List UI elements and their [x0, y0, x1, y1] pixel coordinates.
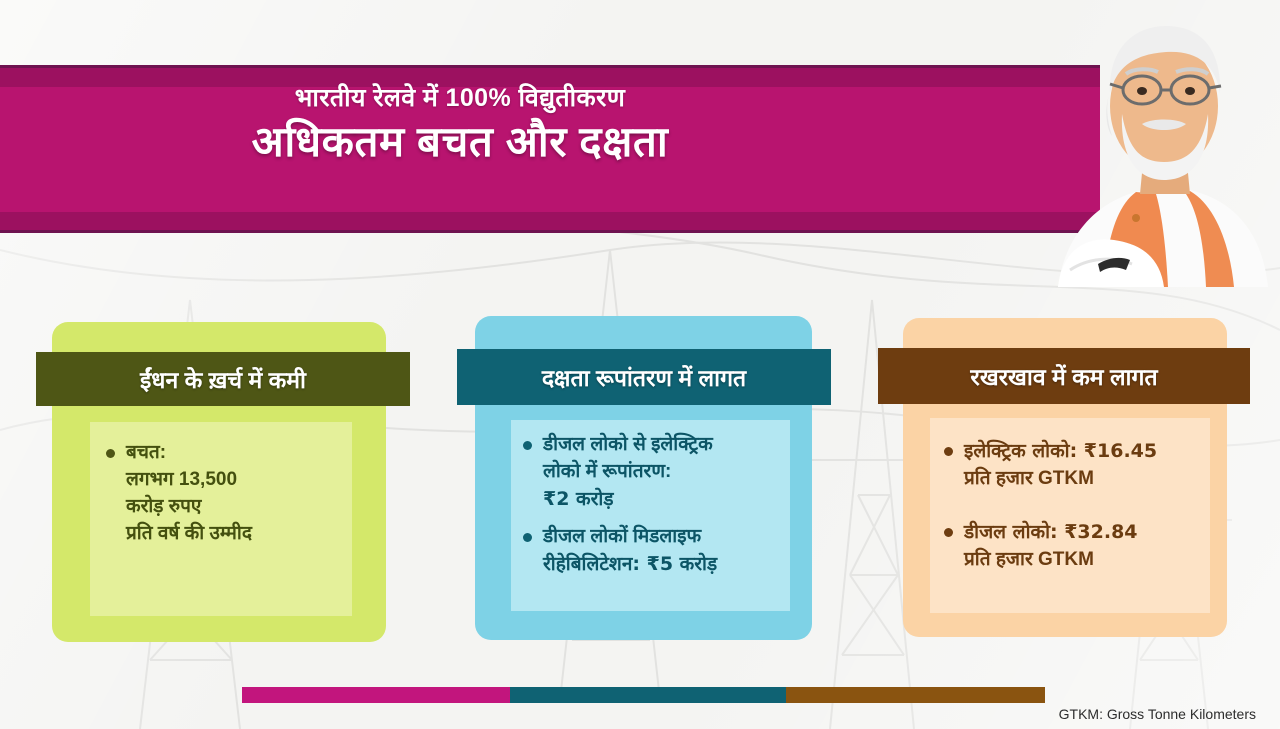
title-block: भारतीय रेलवे में 100% विद्युतीकरण अधिकतम… — [0, 84, 1100, 166]
card-maintenance-heading: रखरखाव में कम लागत — [970, 360, 1157, 392]
bullet-line: प्रति हजार GTKM — [964, 466, 1202, 493]
card-conversion-heading-band: दक्षता रूपांतरण में लागत — [457, 349, 831, 405]
list-item: डीजल लोको: ₹32.84 प्रति हजार GTKM — [942, 519, 1202, 574]
bullet-label: बचत: — [126, 442, 166, 463]
list-item: बचत: लगभग 13,500 करोड़ रुपए प्रति वर्ष क… — [104, 440, 342, 548]
footer-color-bar — [242, 687, 1045, 703]
header-band: भारतीय रेलवे में 100% विद्युतीकरण अधिकतम… — [0, 65, 1100, 233]
bullet-dot-icon — [944, 528, 953, 537]
bullet-label: डीजल लोको से इलेक्ट्रिक — [543, 434, 713, 455]
footer-bar-segment-teal — [510, 687, 786, 703]
card-maintenance-panel: इलेक्ट्रिक लोको: ₹16.45 प्रति हजार GTKM … — [930, 418, 1210, 613]
footer-bar-segment-magenta — [242, 687, 510, 703]
page-subtitle: भारतीय रेलवे में 100% विद्युतीकरण — [0, 84, 920, 113]
bullet-label: इलेक्ट्रिक लोको: ₹16.45 — [964, 440, 1157, 462]
card-maintenance-heading-band: रखरखाव में कम लागत — [878, 348, 1250, 404]
bullet-label: डीजल लोकों मिडलाइफ — [543, 526, 701, 547]
bullet-dot-icon — [944, 447, 953, 456]
card-conversion-panel: डीजल लोको से इलेक्ट्रिक लोको में रूपांतर… — [511, 420, 790, 611]
bullet-line: प्रति वर्ष की उम्मीद — [126, 521, 342, 548]
prime-minister-portrait — [1040, 2, 1272, 287]
card-maintenance-bullet-list: इलेक्ट्रिक लोको: ₹16.45 प्रति हजार GTKM … — [930, 418, 1210, 574]
card-conversion-bullet-list: डीजल लोको से इलेक्ट्रिक लोको में रूपांतर… — [511, 420, 790, 578]
bullet-dot-icon — [106, 449, 115, 458]
bullet-line: प्रति हजार GTKM — [964, 547, 1202, 574]
card-conversion-heading: दक्षता रूपांतरण में लागत — [542, 361, 746, 393]
card-maintenance-cost: रखरखाव में कम लागत इलेक्ट्रिक लोको: ₹16.… — [903, 318, 1227, 637]
header-band-bottom-edge — [0, 212, 1100, 233]
bullet-line: रीहेबिलिटेशन: ₹5 करोड़ — [543, 551, 782, 578]
bullet-line: करोड़ रुपए — [126, 494, 342, 521]
card-fuel-heading-band: ईंधन के ख़र्च में कमी — [36, 352, 410, 406]
bullet-line: ₹2 करोड़ — [543, 486, 782, 513]
card-fuel-savings: ईंधन के ख़र्च में कमी बचत: लगभग 13,500 क… — [52, 322, 386, 642]
page-title: अधिकतम बचत और दक्षता — [0, 117, 920, 167]
footer-bar-segment-brown — [786, 687, 1045, 703]
list-item: इलेक्ट्रिक लोको: ₹16.45 प्रति हजार GTKM — [942, 438, 1202, 493]
card-fuel-panel: बचत: लगभग 13,500 करोड़ रुपए प्रति वर्ष क… — [90, 422, 352, 616]
bullet-dot-icon — [523, 441, 532, 450]
bullet-label: डीजल लोको: ₹32.84 — [964, 521, 1138, 543]
bullet-line: लोको में रूपांतरण: — [543, 459, 782, 486]
card-fuel-heading: ईंधन के ख़र्च में कमी — [140, 363, 306, 395]
card-fuel-bullet-list: बचत: लगभग 13,500 करोड़ रुपए प्रति वर्ष क… — [90, 422, 352, 548]
list-item: डीजल लोकों मिडलाइफ रीहेबिलिटेशन: ₹5 करोड… — [521, 524, 782, 578]
card-conversion-cost: दक्षता रूपांतरण में लागत डीजल लोको से इल… — [475, 316, 812, 640]
bullet-dot-icon — [523, 533, 532, 542]
footer-note: GTKM: Gross Tonne Kilometers — [1059, 706, 1256, 722]
bullet-line: लगभग 13,500 — [126, 467, 342, 494]
list-item: डीजल लोको से इलेक्ट्रिक लोको में रूपांतर… — [521, 432, 782, 513]
